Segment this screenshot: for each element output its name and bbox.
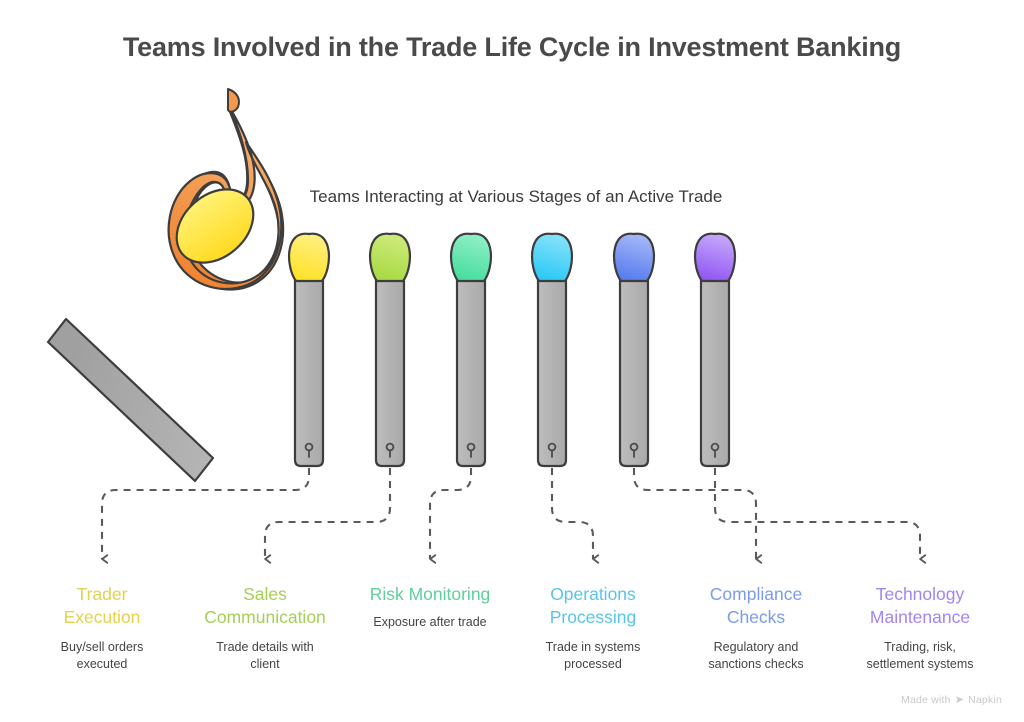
match-stick: [538, 280, 566, 466]
label-title-technology-maintenance: TechnologyMaintenance: [835, 583, 1005, 629]
label-technology-maintenance[interactable]: TechnologyMaintenanceTrading, risk,settl…: [835, 583, 1005, 673]
label-title-risk-monitoring: Risk Monitoring: [345, 583, 515, 606]
match-stick: [295, 280, 323, 466]
match-trader-execution[interactable]: [289, 234, 329, 466]
page-title: Teams Involved in the Trade Life Cycle i…: [0, 32, 1024, 63]
match-sales-communication[interactable]: [370, 234, 410, 466]
label-title-line1: Compliance: [671, 583, 841, 606]
label-title-line2: Execution: [17, 606, 187, 629]
match-stick: [620, 280, 648, 466]
label-title-line1: Risk Monitoring: [345, 583, 515, 606]
match-head: [695, 234, 735, 281]
label-title-line2: Communication: [180, 606, 350, 629]
connector-lines: [102, 468, 920, 559]
match-head: [614, 234, 654, 281]
ember-spark-icon: [228, 89, 239, 112]
match-technology-maintenance[interactable]: [695, 234, 735, 466]
label-title-line1: Trader: [17, 583, 187, 606]
match-compliance-checks[interactable]: [614, 234, 654, 466]
label-trader-execution[interactable]: TraderExecutionBuy/sell ordersexecuted: [17, 583, 187, 673]
label-title-sales-communication: SalesCommunication: [180, 583, 350, 629]
label-desc-line1: Trade in systems: [508, 639, 678, 656]
match-stick: [701, 280, 729, 466]
label-desc-line1: Exposure after trade: [345, 614, 515, 631]
match-stick: [457, 280, 485, 466]
lit-match: [48, 89, 283, 481]
napkin-watermark: Made with ➤ Napkin: [901, 694, 1002, 706]
watermark-prefix: Made with: [901, 694, 951, 706]
label-title-line2: Processing: [508, 606, 678, 629]
match-head: [370, 234, 410, 281]
connector-trader-execution: [102, 468, 309, 559]
label-desc-trader-execution: Buy/sell ordersexecuted: [17, 639, 187, 673]
match-stick: [376, 280, 404, 466]
label-desc-line2: sanctions checks: [671, 656, 841, 673]
label-desc-operations-processing: Trade in systemsprocessed: [508, 639, 678, 673]
match-head: [451, 234, 491, 281]
label-risk-monitoring[interactable]: Risk MonitoringExposure after trade: [345, 583, 515, 631]
label-desc-compliance-checks: Regulatory andsanctions checks: [671, 639, 841, 673]
label-title-line1: Sales: [180, 583, 350, 606]
label-desc-line1: Buy/sell orders: [17, 639, 187, 656]
label-title-compliance-checks: ComplianceChecks: [671, 583, 841, 629]
label-desc-risk-monitoring: Exposure after trade: [345, 614, 515, 631]
label-desc-line2: processed: [508, 656, 678, 673]
label-desc-line2: settlement systems: [835, 656, 1005, 673]
label-desc-line2: client: [180, 656, 350, 673]
connector-operations-processing: [552, 468, 593, 559]
match-head: [532, 234, 572, 281]
label-title-trader-execution: TraderExecution: [17, 583, 187, 629]
label-compliance-checks[interactable]: ComplianceChecksRegulatory andsanctions …: [671, 583, 841, 673]
connector-technology-maintenance: [715, 468, 920, 559]
label-title-operations-processing: OperationsProcessing: [508, 583, 678, 629]
label-desc-line2: executed: [17, 656, 187, 673]
label-title-line1: Technology: [835, 583, 1005, 606]
label-sales-communication[interactable]: SalesCommunicationTrade details withclie…: [180, 583, 350, 673]
connector-risk-monitoring: [430, 468, 471, 559]
label-operations-processing[interactable]: OperationsProcessingTrade in systemsproc…: [508, 583, 678, 673]
match-operations-processing[interactable]: [532, 234, 572, 466]
match-risk-monitoring[interactable]: [451, 234, 491, 466]
label-desc-line1: Trade details with: [180, 639, 350, 656]
match-row: [289, 234, 735, 466]
watermark-brand: Napkin: [968, 694, 1002, 706]
label-title-line1: Operations: [508, 583, 678, 606]
label-desc-line1: Trading, risk,: [835, 639, 1005, 656]
label-desc-sales-communication: Trade details withclient: [180, 639, 350, 673]
label-title-line2: Maintenance: [835, 606, 1005, 629]
page-subtitle: Teams Interacting at Various Stages of a…: [276, 187, 756, 207]
label-desc-line1: Regulatory and: [671, 639, 841, 656]
label-desc-technology-maintenance: Trading, risk,settlement systems: [835, 639, 1005, 673]
napkin-leaf-icon: ➤: [955, 695, 964, 706]
match-head: [289, 234, 329, 281]
connector-sales-communication: [265, 468, 390, 559]
lit-match-stick: [48, 319, 213, 481]
connector-compliance-checks: [634, 468, 756, 559]
label-title-line2: Checks: [671, 606, 841, 629]
